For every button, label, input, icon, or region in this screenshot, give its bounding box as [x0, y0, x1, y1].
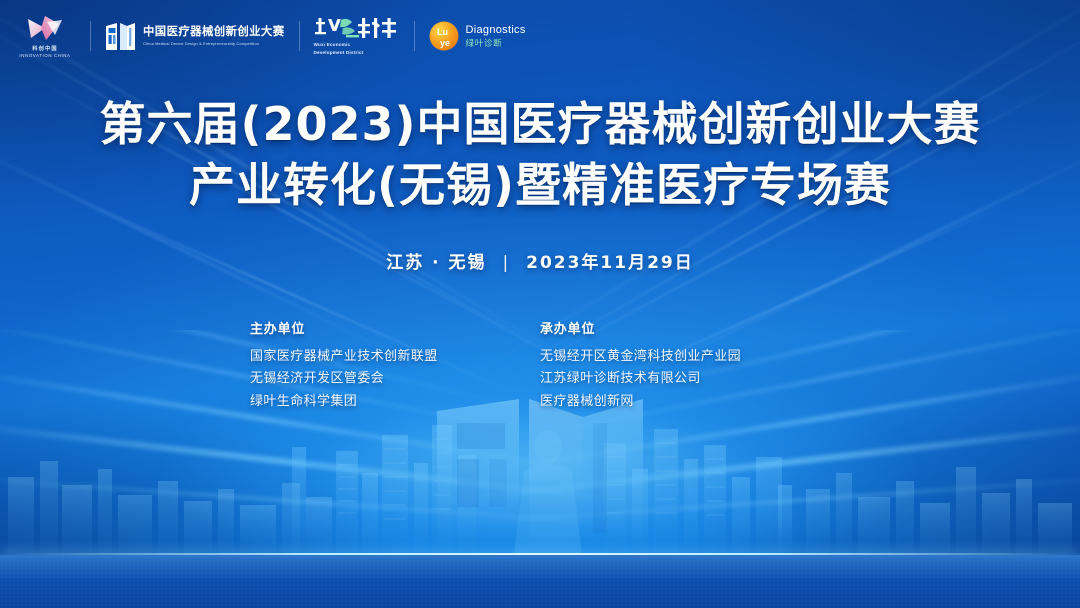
event-date: 2023年11月29日 — [526, 253, 694, 273]
co-host-list: 无锡经开区黄金湾科技创业产业园 江苏绿叶诊断技术有限公司 医疗器械创新网 — [540, 346, 830, 413]
foreground-ground — [0, 555, 1080, 608]
event-poster: 科创中国 INNOVATION CHINA 中国医疗器械创新创业大赛 C — [0, 0, 1080, 608]
list-item: 江苏绿叶诊断技术有限公司 — [540, 368, 830, 390]
list-item: 医疗器械创新网 — [540, 391, 830, 413]
meta-separator: | — [502, 253, 510, 273]
event-meta: 江苏 · 无锡 | 2023年11月29日 — [0, 248, 1080, 273]
event-location: 江苏 · 无锡 — [386, 253, 486, 273]
list-item: 国家医疗器械产业技术创新联盟 — [250, 346, 540, 368]
co-host-column: 承办单位 无锡经开区黄金湾科技创业产业园 江苏绿叶诊断技术有限公司 医疗器械创新… — [540, 318, 830, 413]
poster-content: 第六届(2023)中国医疗器械创新创业大赛 产业转化(无锡)暨精准医疗专场赛 江… — [0, 0, 1080, 273]
host-column: 主办单位 国家医疗器械产业技术创新联盟 无锡经济开发区管委会 绿叶生命科学集团 — [250, 318, 540, 413]
competition-logo-watermark — [433, 393, 647, 553]
list-item: 无锡经开区黄金湾科技创业产业园 — [540, 346, 830, 368]
page-title-line1: 第六届(2023)中国医疗器械创新创业大赛 — [0, 95, 1080, 154]
co-host-heading: 承办单位 — [540, 318, 830, 337]
list-item: 无锡经济开发区管委会 — [250, 368, 540, 390]
page-title-line2: 产业转化(无锡)暨精准医疗专场赛 — [0, 156, 1080, 215]
organizers-section: 主办单位 国家医疗器械产业技术创新联盟 无锡经济开发区管委会 绿叶生命科学集团 … — [0, 318, 1080, 413]
list-item: 绿叶生命科学集团 — [250, 391, 540, 413]
host-heading: 主办单位 — [250, 318, 540, 337]
horizon-line — [0, 553, 1080, 556]
host-list: 国家医疗器械产业技术创新联盟 无锡经济开发区管委会 绿叶生命科学集团 — [250, 346, 540, 413]
